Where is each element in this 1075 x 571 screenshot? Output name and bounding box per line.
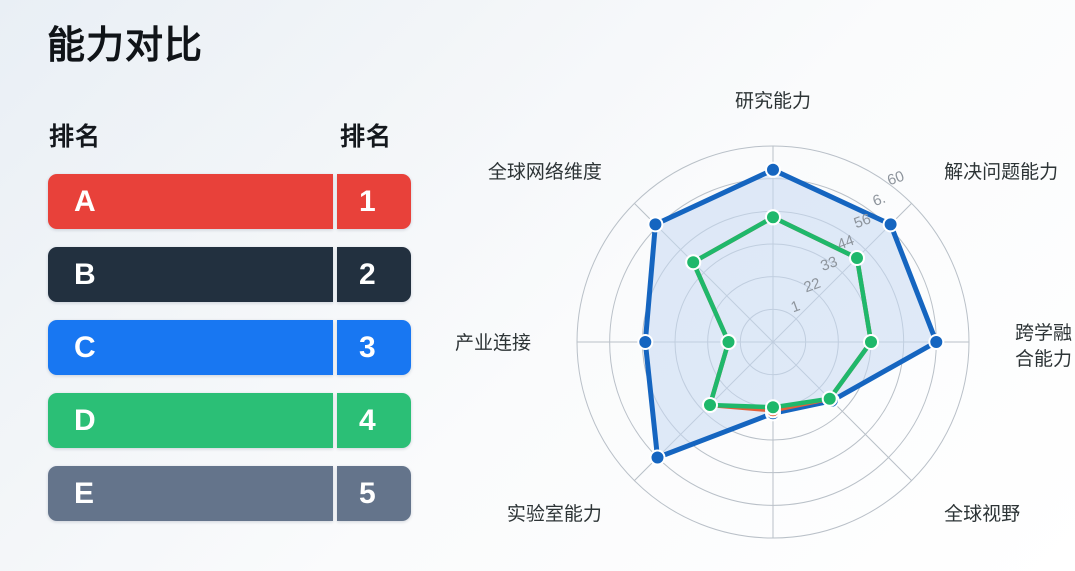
series-point-green (850, 251, 864, 265)
axis-label-5: 实验室能力 (507, 503, 602, 525)
axis-label-7: 全球网络维度 (488, 161, 602, 183)
row-name-cell: B (48, 247, 333, 302)
slide-canvas: 能力对比 排名 排名 A1B2C3D4E5 研究能力解决问题能力跨学融合能力全球… (0, 0, 1075, 571)
tick-label-5: 6. (870, 190, 888, 210)
table-row[interactable]: B2 (48, 247, 411, 302)
axis-label-6: 产业连接 (455, 332, 531, 354)
row-name-cell: D (48, 393, 333, 448)
series-point-blue (884, 217, 898, 231)
radar-chart-svg: 研究能力解决问题能力跨学融合能力全球视野教授实力实验室能力产业连接全球网络维度1… (455, 92, 1075, 571)
series-point-blue (638, 335, 652, 349)
series-point-blue (648, 217, 662, 231)
row-rank-cell: 3 (337, 320, 411, 375)
row-name-cell: E (48, 466, 333, 521)
row-name-cell: A (48, 174, 333, 229)
axis-label-3: 全球视野 (944, 503, 1020, 525)
series-point-blue (651, 451, 665, 465)
series-point-blue (766, 163, 780, 177)
series-area-blue (645, 170, 936, 458)
ranking-list: A1B2C3D4E5 (48, 174, 411, 539)
page-title: 能力对比 (47, 26, 203, 68)
axis-label-line: 合能力 (1015, 348, 1072, 370)
series-point-blue (929, 335, 943, 349)
row-rank-cell: 1 (337, 174, 411, 229)
series-point-green (686, 255, 700, 269)
row-rank-cell: 2 (337, 247, 411, 302)
table-row[interactable]: E5 (48, 466, 411, 521)
table-row[interactable]: C3 (48, 320, 411, 375)
column-header-rank: 排名 (340, 117, 392, 153)
axis-label-1: 解决问题能力 (944, 161, 1058, 183)
radar-chart: 研究能力解决问题能力跨学融合能力全球视野教授实力实验室能力产业连接全球网络维度1… (455, 92, 1075, 571)
column-header-name: 排名 (49, 117, 101, 153)
axis-label-line: 跨学融 (1015, 322, 1072, 344)
series-point-green (766, 210, 780, 224)
table-row[interactable]: D4 (48, 393, 411, 448)
row-rank-cell: 5 (337, 466, 411, 521)
row-name-cell: C (48, 320, 333, 375)
axis-label-2: 跨学融合能力 (1015, 322, 1072, 370)
series-point-green (722, 335, 736, 349)
tick-label-6: 60 (885, 168, 906, 190)
table-row[interactable]: A1 (48, 174, 411, 229)
series-point-green (766, 400, 780, 414)
series-point-green (864, 335, 878, 349)
axis-label-0: 研究能力 (735, 90, 811, 112)
series-point-green (703, 398, 717, 412)
row-rank-cell: 4 (337, 393, 411, 448)
series-point-green (823, 392, 837, 406)
